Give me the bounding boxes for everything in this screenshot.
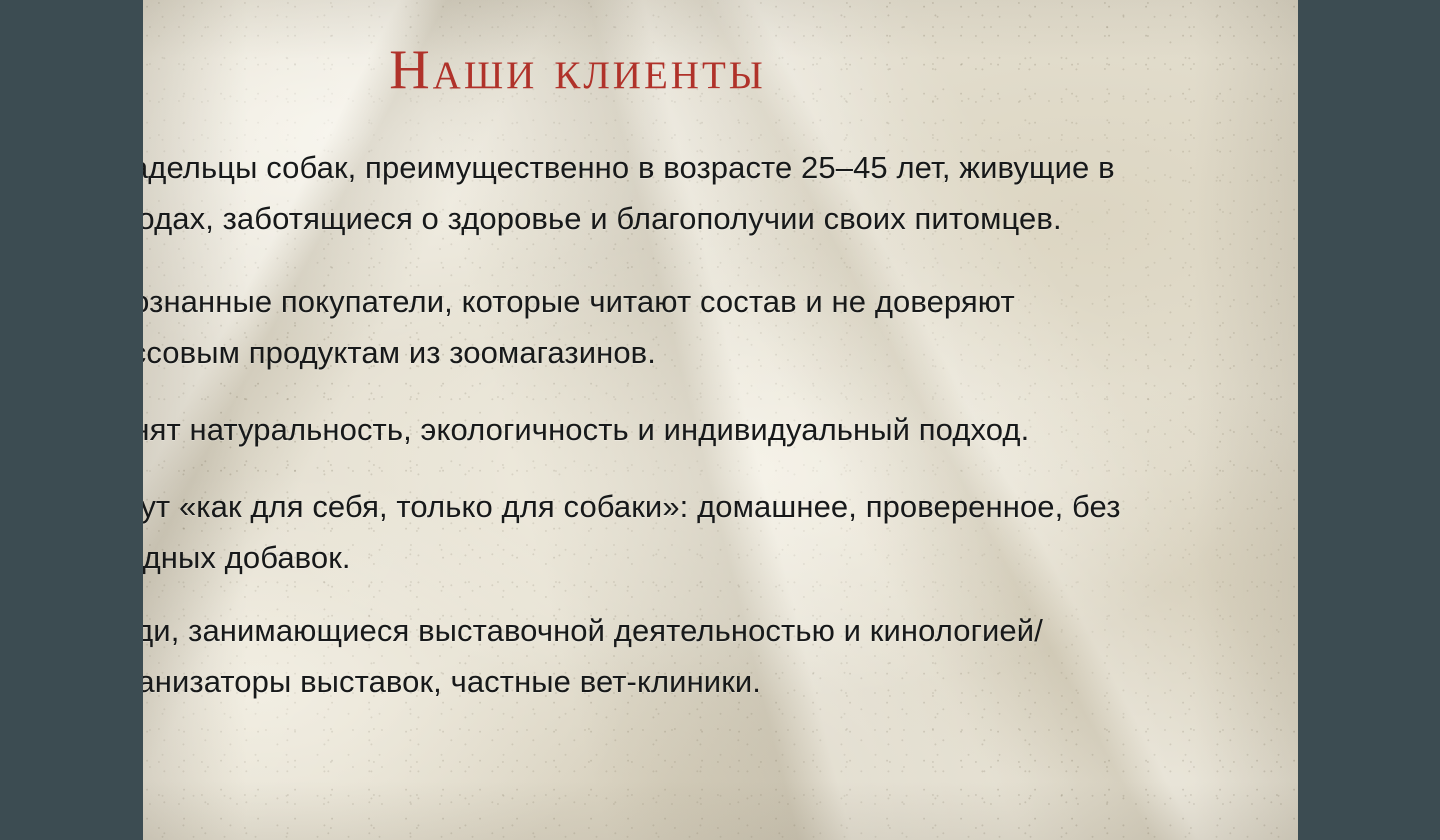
- list-item: Владельцы собак, преимущественно в возра…: [0, 142, 1155, 244]
- list-item: Ищут «как для себя, только для собаки»: …: [0, 481, 1155, 583]
- list-item: Ценят натуральность, экологичность и инд…: [0, 404, 1155, 455]
- page-title: Наши клиенты: [0, 42, 1155, 98]
- clients-bullet-list: Владельцы собак, преимущественно в возра…: [0, 142, 1155, 707]
- list-item-text: Осознанные покупатели, которые читают со…: [92, 276, 1122, 378]
- list-item-text: Ценят натуральность, экологичность и инд…: [92, 404, 1029, 455]
- list-item-text: Люди, занимающиеся выставочной деятельно…: [92, 605, 1122, 707]
- slide-root: Наши клиенты Владельцы: [0, 0, 1440, 840]
- list-item: Люди, занимающиеся выставочной деятельно…: [0, 605, 1155, 707]
- list-item-text: Ищут «как для себя, только для собаки»: …: [92, 481, 1122, 583]
- list-item: Осознанные покупатели, которые читают со…: [0, 276, 1155, 378]
- left-margin-bar: [0, 0, 143, 840]
- list-item-text: Владельцы собак, преимущественно в возра…: [92, 142, 1122, 244]
- slide-content: Наши клиенты Владельцы: [0, 0, 1440, 840]
- right-margin-bar: [1298, 0, 1440, 840]
